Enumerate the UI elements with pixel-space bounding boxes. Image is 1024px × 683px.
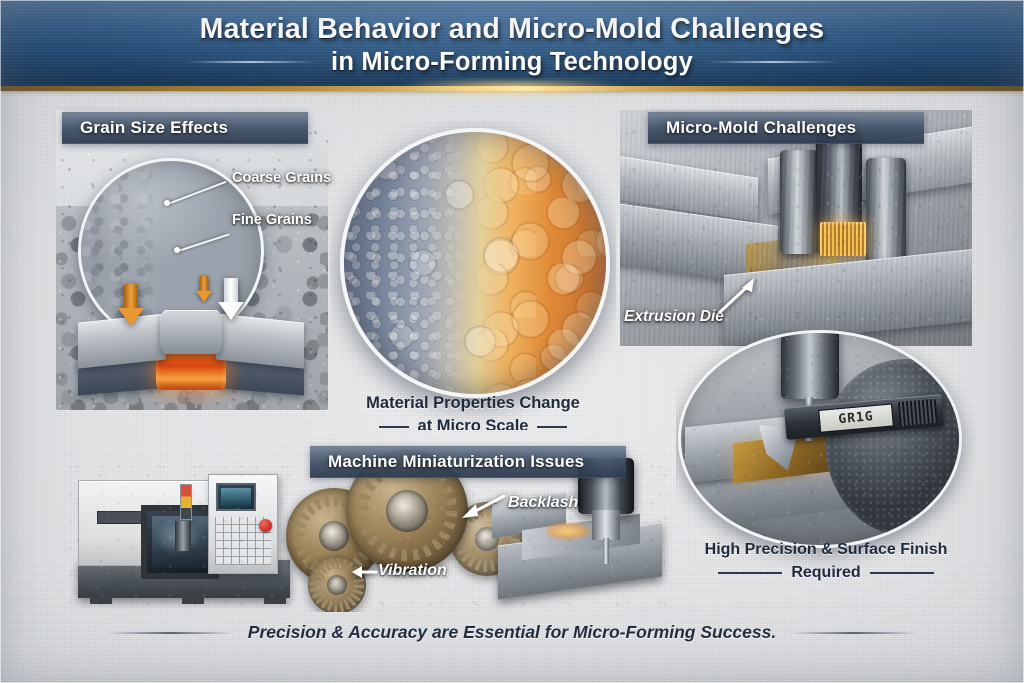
section-band-machine-miniaturization: Machine Miniaturization Issues [310, 446, 626, 478]
extrusion-die-arrow-icon [716, 276, 762, 316]
micrograph-circle-center [340, 128, 610, 398]
caption-dash-right [537, 426, 567, 428]
section-band-grain-size-effects: Grain Size Effects [62, 112, 308, 144]
section-label-machine-miniaturization: Machine Miniaturization Issues [328, 452, 584, 472]
caliper-display: GR1G [818, 404, 894, 433]
callout-vibration: Vibration [378, 562, 447, 580]
callout-fine-grains: Fine Grains [232, 212, 312, 228]
caption-material-properties-line-2: at Micro Scale [418, 415, 529, 430]
precision-inspection-circle: GR1G [678, 330, 962, 548]
panel-material-properties: Material Properties Change at Micro Scal… [330, 120, 616, 430]
leader-dot-coarse-grains [164, 200, 170, 206]
page-title-line-2-row: in Micro-Forming Technology [185, 46, 839, 78]
micrograph-rim-shading [344, 132, 606, 394]
section-label-grain-size-effects: Grain Size Effects [80, 118, 228, 138]
precision-dash-right [870, 572, 934, 574]
footer: Precision & Accuracy are Essential for M… [0, 622, 1024, 643]
title-rule-right [707, 61, 839, 63]
caption-high-precision: High Precision & Surface Finish Required [676, 538, 976, 584]
caption-high-precision-line-2: Required [791, 561, 860, 584]
vibration-arrow-icon [350, 562, 378, 582]
section-band-micro-mold-challenges: Micro-Mold Challenges [648, 112, 924, 144]
panel-high-precision: GR1G High Precision & Surface Finish Req… [676, 330, 976, 600]
caption-high-precision-line-2-row: Required [676, 561, 976, 584]
caption-material-properties-line-2-row: at Micro Scale [330, 415, 616, 430]
page-title-line-2: in Micro-Forming Technology [331, 46, 693, 78]
caliper-thumbwheel [898, 399, 938, 426]
billet-upper-slug [160, 310, 222, 354]
footer-rule-right [790, 632, 918, 634]
forging-die-illustration [74, 296, 310, 410]
callout-extrusion-die: Extrusion Die [624, 308, 724, 326]
precision-dash-left [718, 572, 782, 574]
poster-header: Material Behavior and Micro-Mold Challen… [0, 0, 1024, 88]
backlash-arrow-icon [452, 490, 508, 524]
caption-dash-left [379, 426, 409, 428]
precision-panel-speckle [681, 333, 959, 545]
callout-backlash: Backlash [508, 494, 578, 512]
caliper-display-value: GR1G [838, 409, 874, 427]
footer-rule-left [106, 632, 234, 634]
page-title-line-1: Material Behavior and Micro-Mold Challen… [200, 12, 825, 46]
caption-material-properties-line-1: Material Properties Change [330, 392, 616, 415]
title-block: Material Behavior and Micro-Mold Challen… [0, 0, 1024, 88]
title-rule-left [185, 61, 317, 63]
footer-text: Precision & Accuracy are Essential for M… [248, 622, 776, 643]
infographic-poster: Material Behavior and Micro-Mold Challen… [0, 0, 1024, 683]
caption-high-precision-line-1: High Precision & Surface Finish [676, 538, 976, 561]
section-label-micro-mold-challenges: Micro-Mold Challenges [666, 118, 856, 138]
die-block-right [216, 313, 304, 368]
callout-coarse-grains: Coarse Grains [232, 170, 331, 186]
panel-grain-size-effects [56, 110, 328, 410]
leader-dot-fine-grains [174, 247, 180, 253]
header-accent-glow [352, 80, 672, 97]
caption-material-properties: Material Properties Change at Micro Scal… [330, 392, 616, 430]
